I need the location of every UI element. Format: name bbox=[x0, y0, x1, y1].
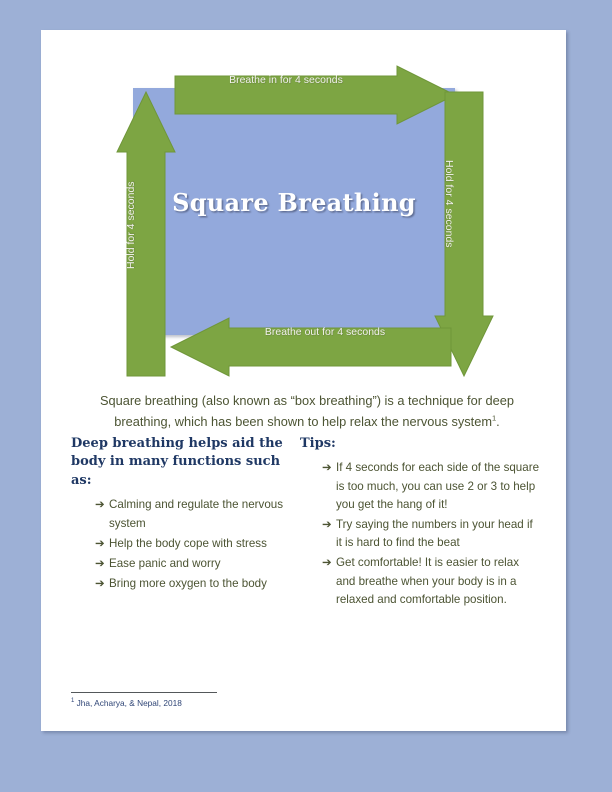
footnote-citation: 1 Jha, Acharya, & Nepal, 2018 bbox=[71, 698, 371, 709]
list-item-text: Bring more oxygen to the body bbox=[109, 577, 267, 590]
list-item: ➔Calming and regulate the nervous system bbox=[95, 496, 284, 532]
arrow-hold-left-label: Hold for 4 seconds bbox=[117, 120, 145, 330]
footnote-marker: 1 bbox=[71, 698, 74, 704]
footnote-citation-text: Jha, Acharya, & Nepal, 2018 bbox=[77, 698, 182, 708]
diagram-title: Square Breathing bbox=[133, 188, 455, 217]
arrow-bullet-icon: ➔ bbox=[322, 516, 332, 534]
benefits-heading: Deep breathing helps aid the body in man… bbox=[71, 435, 284, 490]
list-item: ➔Get comfortable! It is easier to relax … bbox=[322, 554, 539, 609]
footnote-area: 1 Jha, Acharya, & Nepal, 2018 bbox=[71, 692, 371, 709]
content-columns: Deep breathing helps aid the body in man… bbox=[71, 435, 539, 611]
tips-list: ➔If 4 seconds for each side of the squar… bbox=[300, 459, 539, 609]
intro-trailing: . bbox=[496, 414, 500, 429]
benefits-list: ➔Calming and regulate the nervous system… bbox=[71, 496, 284, 593]
arrow-bullet-icon: ➔ bbox=[95, 535, 105, 553]
column-tips: Tips: ➔If 4 seconds for each side of the… bbox=[300, 435, 539, 611]
arrow-breathe-in: Breathe in for 4 seconds bbox=[175, 66, 455, 124]
square-breathing-diagram: Square Breathing Breathe in for 4 second… bbox=[41, 30, 566, 360]
list-item-text: Help the body cope with stress bbox=[109, 537, 267, 550]
footnote-separator bbox=[71, 692, 217, 693]
arrow-bullet-icon: ➔ bbox=[95, 496, 105, 514]
list-item: ➔Help the body cope with stress bbox=[95, 535, 284, 553]
arrow-bullet-icon: ➔ bbox=[322, 554, 332, 572]
intro-paragraph: Square breathing (also known as “box bre… bbox=[72, 391, 542, 432]
list-item-text: Get comfortable! It is easier to relax a… bbox=[336, 556, 519, 605]
arrow-hold-left: Hold for 4 seconds bbox=[117, 92, 175, 354]
arrow-breathe-in-label: Breathe in for 4 seconds bbox=[175, 66, 397, 94]
list-item: ➔Bring more oxygen to the body bbox=[95, 575, 284, 593]
list-item-text: Ease panic and worry bbox=[109, 557, 221, 570]
arrow-bullet-icon: ➔ bbox=[95, 555, 105, 573]
list-item: ➔Ease panic and worry bbox=[95, 555, 284, 573]
tips-heading: Tips: bbox=[300, 435, 539, 453]
arrow-bullet-icon: ➔ bbox=[95, 575, 105, 593]
list-item: ➔If 4 seconds for each side of the squar… bbox=[322, 459, 539, 514]
arrow-breathe-out-label: Breathe out for 4 seconds bbox=[209, 318, 441, 346]
arrow-breathe-out: Breathe out for 4 seconds bbox=[171, 318, 451, 376]
list-item: ➔Try saying the numbers in your head if … bbox=[322, 516, 539, 552]
intro-text: Square breathing (also known as “box bre… bbox=[100, 393, 514, 429]
arrow-hold-right-label: Hold for 4 seconds bbox=[435, 92, 463, 316]
column-benefits: Deep breathing helps aid the body in man… bbox=[71, 435, 284, 611]
arrow-bullet-icon: ➔ bbox=[322, 459, 332, 477]
list-item-text: If 4 seconds for each side of the square… bbox=[336, 461, 539, 510]
document-page: Square Breathing Breathe in for 4 second… bbox=[41, 30, 566, 731]
list-item-text: Try saying the numbers in your head if i… bbox=[336, 518, 533, 549]
list-item-text: Calming and regulate the nervous system bbox=[109, 498, 283, 529]
